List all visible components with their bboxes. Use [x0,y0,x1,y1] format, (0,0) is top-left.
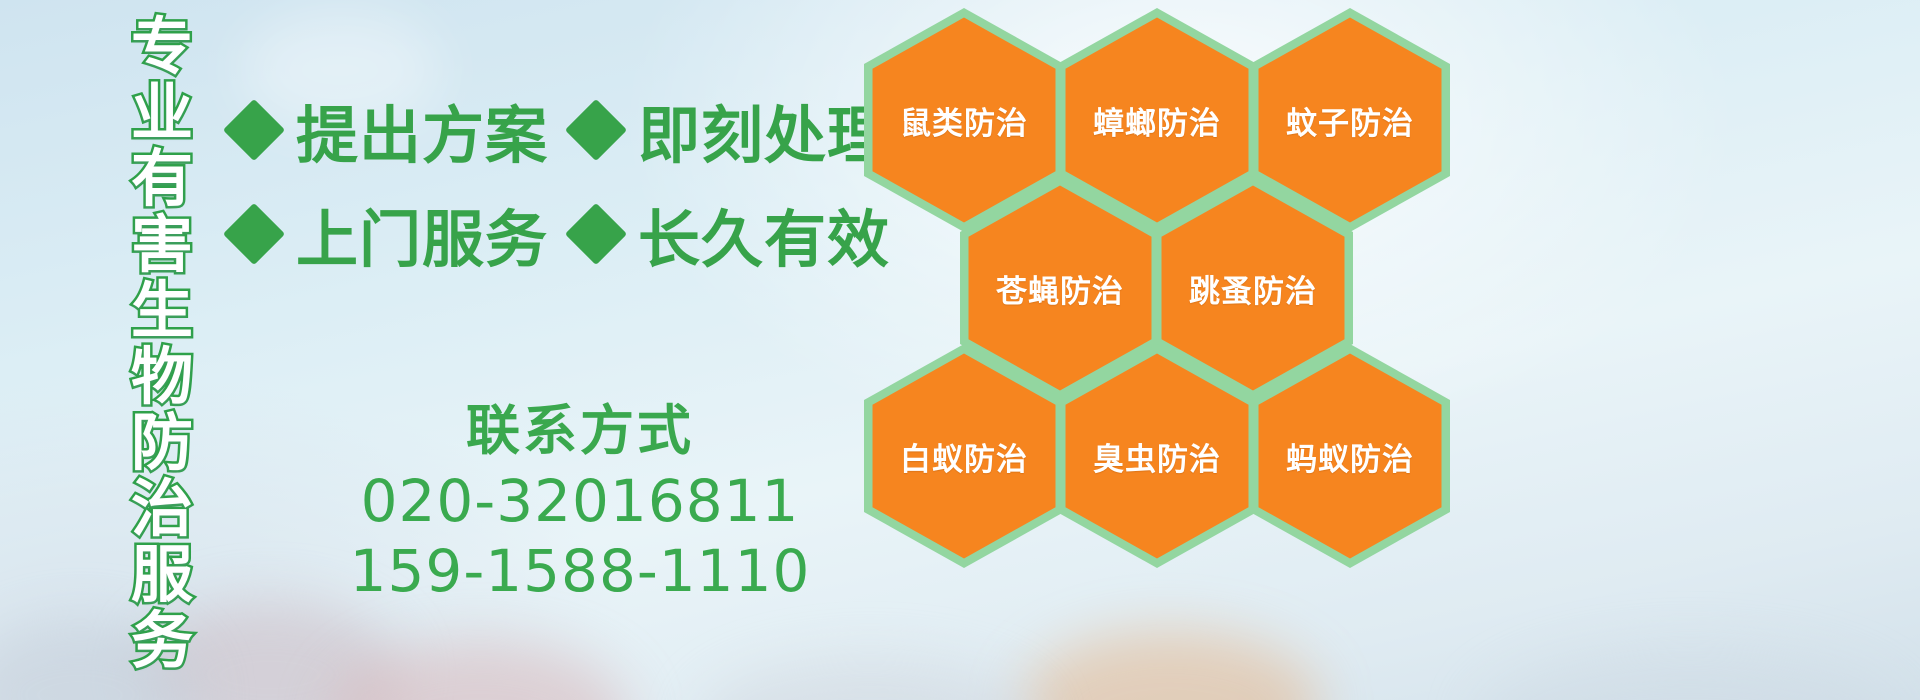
feature-label: 提出方案 [296,85,548,175]
vertical-headline-char: 专 [131,14,193,80]
service-hex-label: 苍蝇防治 [996,266,1124,311]
feature-item-propose-plan: 提出方案 [232,85,548,175]
diamond-bullet-icon [565,203,627,265]
feature-list: 提出方案 即刻处理 上门服务 长久有效 [232,78,872,286]
vertical-headline-char: 物 [131,344,193,410]
contact-phone-mobile[interactable]: 159-1588-1110 [300,536,860,606]
service-hex-label: 鼠类防治 [900,98,1028,143]
background-blur-shape [1020,630,1320,700]
vertical-headline-char: 业 [131,80,193,146]
service-hex-ant[interactable]: 蚂蚁防治 [1250,344,1450,568]
feature-item-long-lasting: 长久有效 [574,189,890,279]
contact-phone-landline[interactable]: 020-32016811 [300,466,860,536]
vertical-headline: 专 业 有 害 生 物 防 治 服 务 [106,14,218,574]
feature-label: 即刻处理 [638,85,890,175]
feature-label: 上门服务 [296,189,548,279]
service-honeycomb: 鼠类防治 蟑螂防治 蚊子防治 苍蝇防治 跳蚤防治 白蚁防治 [860,0,1460,580]
vertical-headline-char: 务 [131,608,193,674]
vertical-headline-char: 治 [131,476,193,542]
background-blur-shape [1480,650,1900,700]
service-hex-termite[interactable]: 白蚁防治 [864,344,1064,568]
diamond-bullet-icon [565,99,627,161]
pest-control-banner: 专 业 有 害 生 物 防 治 服 务 提出方案 即刻处理 上门服务 [0,0,1920,700]
feature-item-onsite-service: 上门服务 [232,189,548,279]
vertical-headline-char: 害 [131,212,193,278]
feature-row: 提出方案 即刻处理 [232,78,872,182]
vertical-headline-char: 有 [131,146,193,212]
contact-title: 联系方式 [300,400,860,462]
feature-item-immediate-handling: 即刻处理 [574,85,890,175]
service-hex-label: 蚂蚁防治 [1286,434,1414,479]
diamond-bullet-icon [223,203,285,265]
feature-row: 上门服务 长久有效 [232,182,872,286]
service-hex-label: 跳蚤防治 [1189,266,1317,311]
diamond-bullet-icon [223,99,285,161]
service-hex-label: 蟑螂防治 [1093,98,1221,143]
vertical-headline-char: 服 [131,542,193,608]
vertical-headline-char: 生 [131,278,193,344]
vertical-headline-char: 防 [131,410,193,476]
service-hex-bedbug[interactable]: 臭虫防治 [1057,344,1257,568]
contact-block: 联系方式 020-32016811 159-1588-1110 [300,400,860,606]
service-hex-label: 白蚁防治 [900,434,1028,479]
background-blur-shape [700,660,1040,700]
service-hex-label: 蚊子防治 [1286,98,1414,143]
service-hex-label: 臭虫防治 [1093,434,1221,479]
feature-label: 长久有效 [638,189,890,279]
